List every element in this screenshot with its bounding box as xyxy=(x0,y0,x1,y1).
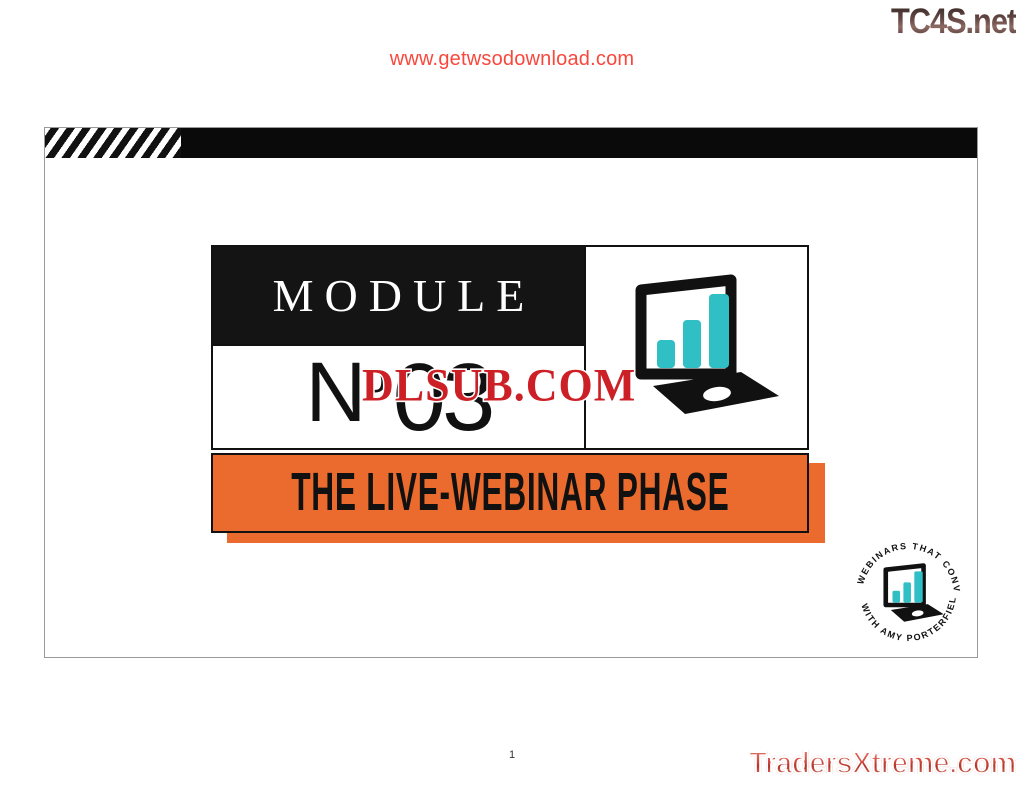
badge-laptop-icon xyxy=(886,566,944,622)
module-header-block: MODULE xyxy=(213,247,584,344)
black-bar xyxy=(181,128,977,158)
dlsub-watermark: DLSUB.COM xyxy=(362,359,636,413)
diagonal-stripe-band xyxy=(45,128,181,158)
tradersxtreme-logo-text: TradersXtreme.com xyxy=(749,745,1016,780)
slide-top-bar xyxy=(45,128,977,158)
module-label: MODULE xyxy=(262,269,536,322)
tradersxtreme-watermark-logo: TradersXtreme.com xyxy=(749,745,1016,781)
module-icon-cell xyxy=(584,247,809,450)
brand-badge-svg: WEBINARS THAT CONVERT WITH AMY PORTERFIE… xyxy=(846,533,970,645)
laptop-bar-chart-icon xyxy=(613,274,783,424)
numero-letter: N xyxy=(306,345,365,439)
getwso-url-watermark: www.getwsodownload.com xyxy=(0,48,1024,71)
phase-banner-text: THE LIVE-WEBINAR PHASE xyxy=(291,463,729,524)
tc4s-watermark-logo: TC4S.net xyxy=(891,2,1016,42)
brand-badge: WEBINARS THAT CONVERT WITH AMY PORTERFIE… xyxy=(846,533,970,645)
module-card: MODULE No 03 xyxy=(211,245,809,450)
phase-banner: THE LIVE-WEBINAR PHASE xyxy=(211,453,809,533)
